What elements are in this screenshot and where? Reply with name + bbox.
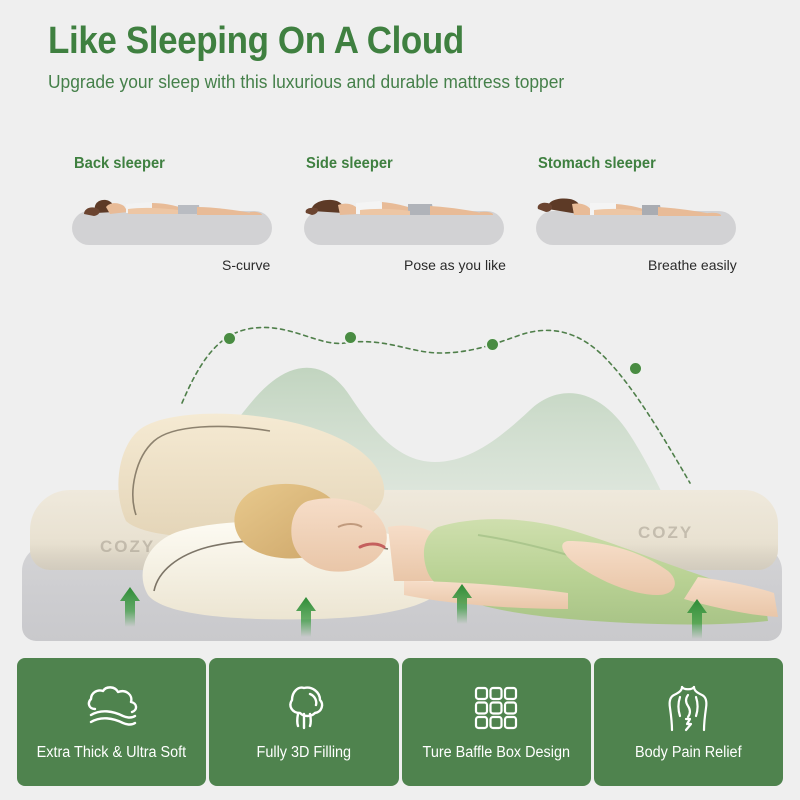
feature-label: Extra Thick & Ultra Soft xyxy=(37,744,187,762)
stomach-sleeper-figure-icon xyxy=(530,187,745,221)
back-sleeper-illustration xyxy=(66,187,286,245)
sleeper-title-back: Back sleeper xyxy=(74,155,296,173)
feature-card-baffle-box[interactable]: Ture Baffle Box Design xyxy=(402,658,591,786)
support-arrow-3 xyxy=(452,584,472,624)
support-arrow-2 xyxy=(296,597,316,637)
curve-point-4 xyxy=(628,361,643,376)
page-subtitle: Upgrade your sleep with this luxurious a… xyxy=(48,72,725,92)
tree-fiber-icon xyxy=(280,682,328,734)
feature-bar: Extra Thick & Ultra Soft Fully 3D Fillin… xyxy=(17,658,783,786)
feature-card-pain-relief[interactable]: Body Pain Relief xyxy=(594,658,783,786)
side-sleeper-illustration xyxy=(298,187,518,245)
header: Like Sleeping On A Cloud Upgrade your sl… xyxy=(48,22,768,92)
sleeper-panel-stomach: Stomach sleeper Breathe easily xyxy=(522,155,772,280)
hero-section: COZY COZY xyxy=(0,285,800,660)
sleeper-panel-side: Side sleeper Pose as you like xyxy=(290,155,540,280)
feature-card-3d-filling[interactable]: Fully 3D Filling xyxy=(209,658,398,786)
sleeper-positions-section: Back sleeper S-curve Side sleepe xyxy=(0,155,800,280)
grid-box-icon xyxy=(473,682,519,734)
sleeper-title-stomach: Stomach sleeper xyxy=(538,155,760,173)
sleeper-caption-side: Pose as you like xyxy=(404,257,506,273)
page-title: Like Sleeping On A Cloud xyxy=(48,22,710,62)
mattress-topper-photo: COZY COZY xyxy=(8,395,792,660)
support-arrow-1 xyxy=(120,587,140,627)
body-spine-icon xyxy=(665,682,711,734)
sleeper-panel-back: Back sleeper S-curve xyxy=(58,155,308,280)
sleeper-caption-back: S-curve xyxy=(222,257,270,273)
feature-label: Ture Baffle Box Design xyxy=(422,744,569,762)
curve-point-3 xyxy=(485,337,500,352)
cloud-icon xyxy=(83,682,141,734)
sleeper-title-side: Side sleeper xyxy=(306,155,528,173)
side-sleeper-figure-icon xyxy=(298,187,513,221)
feature-label: Body Pain Relief xyxy=(635,744,742,762)
sleeper-caption-stomach: Breathe easily xyxy=(648,257,737,273)
feature-label: Fully 3D Filling xyxy=(257,744,352,762)
support-arrow-4 xyxy=(687,599,707,639)
support-arrows-group xyxy=(8,395,792,660)
stomach-sleeper-illustration xyxy=(530,187,750,245)
back-sleeper-figure-icon xyxy=(66,187,281,221)
curve-point-1 xyxy=(222,331,237,346)
product-infographic: Like Sleeping On A Cloud Upgrade your sl… xyxy=(0,0,800,800)
feature-card-extra-thick[interactable]: Extra Thick & Ultra Soft xyxy=(17,658,206,786)
curve-point-2 xyxy=(343,330,358,345)
